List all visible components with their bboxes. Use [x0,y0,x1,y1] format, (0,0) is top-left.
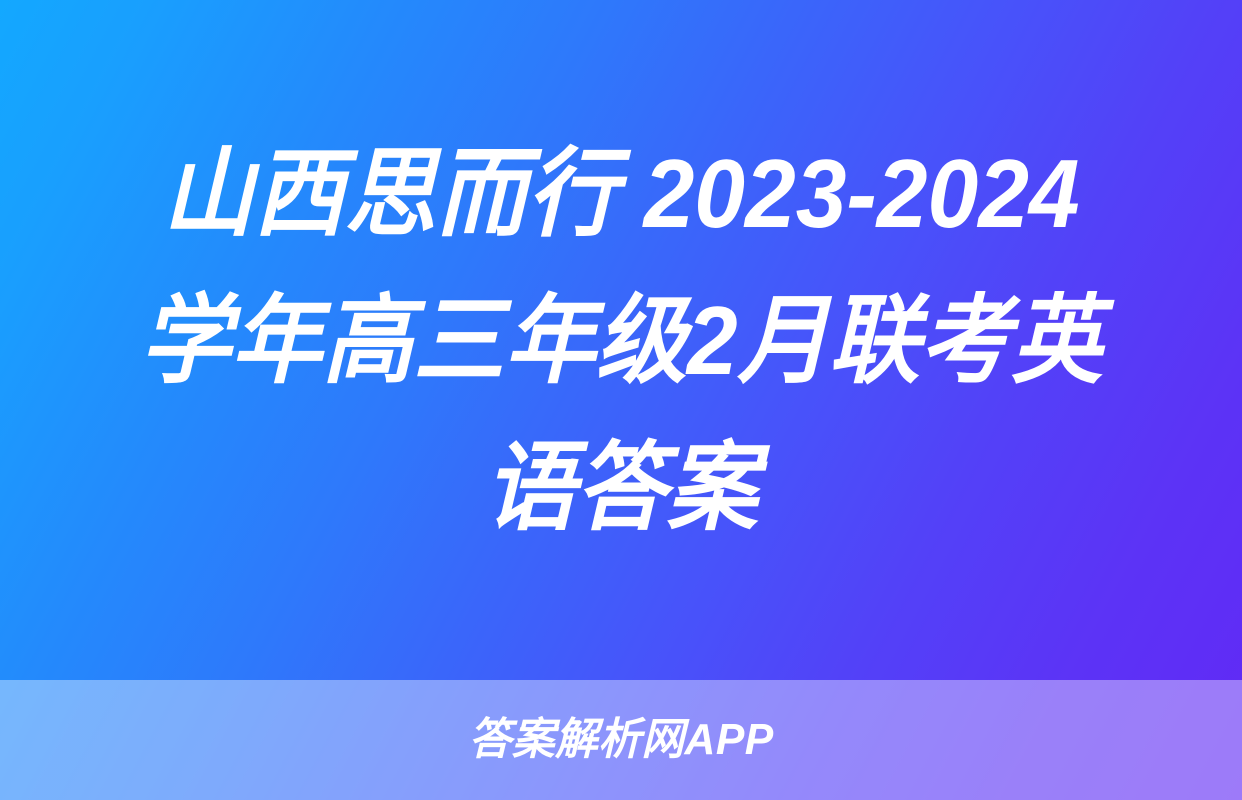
brand-watermark: 答案解析网APP [468,718,773,762]
title-block: 山西思而行 2023-2024学年高三年级2月联考英语答案 [0,0,1242,680]
page-title: 山西思而行 2023-2024学年高三年级2月联考英语答案 [118,120,1124,561]
poster-canvas: 山西思而行 2023-2024学年高三年级2月联考英语答案 答案解析网APP [0,0,1242,800]
footer-brand-band: 答案解析网APP [0,680,1242,800]
